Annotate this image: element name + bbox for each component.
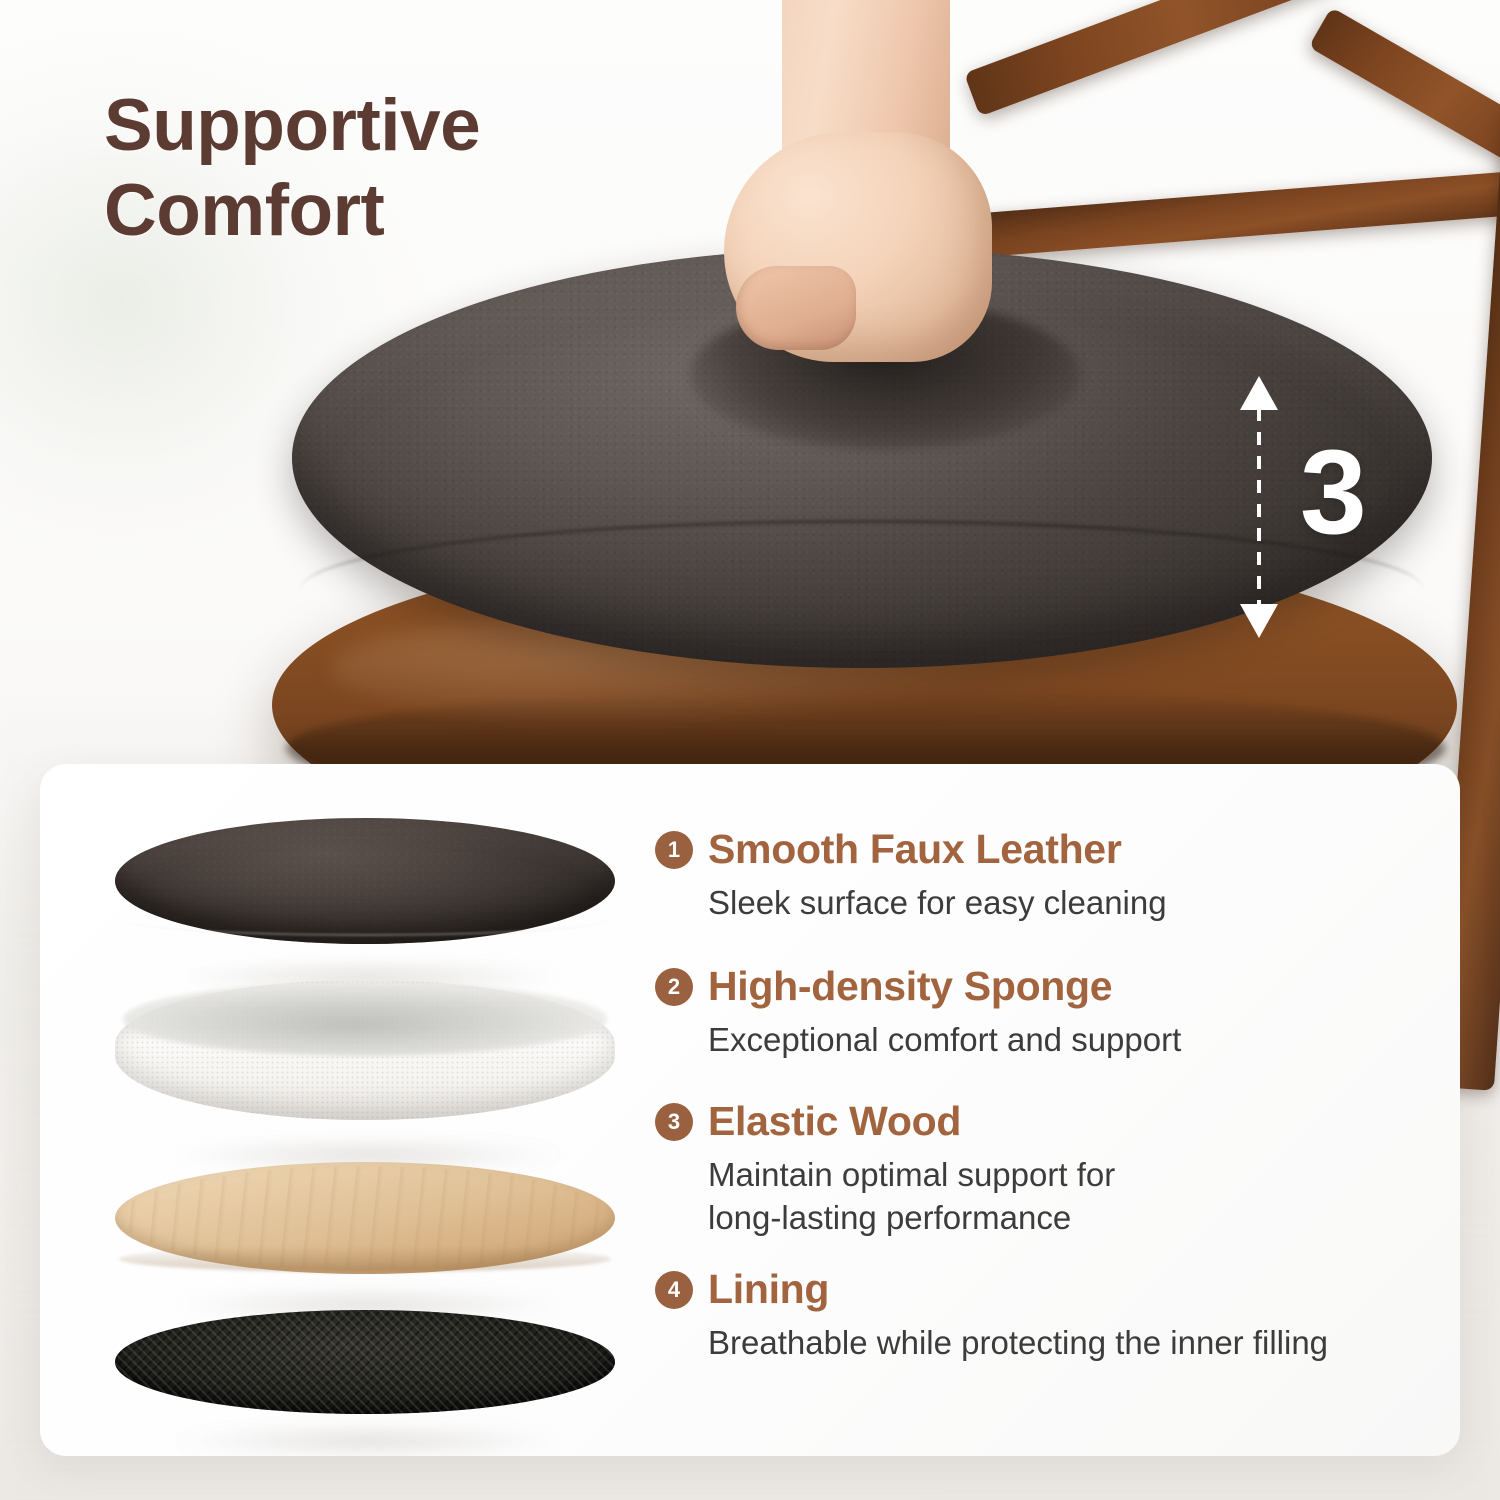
sponge-top-face (123, 982, 607, 1056)
feature-item-2: 2 High-density Sponge Exceptional comfor… (655, 963, 1425, 1062)
feature-description: Breathable while protecting the inner fi… (708, 1322, 1425, 1365)
fist-fingers (736, 266, 856, 350)
feature-title: Elastic Wood (708, 1098, 961, 1145)
layer-shadow-4 (173, 1424, 563, 1456)
chair-slat-upper-right (1309, 7, 1500, 197)
layer-lining (115, 1310, 615, 1414)
chair-slat-rail (949, 169, 1500, 260)
layer-sponge (115, 980, 615, 1120)
exploded-layer-illustration (115, 794, 655, 1424)
feature-item-4: 4 Lining Breathable while protecting the… (655, 1266, 1425, 1365)
thickness-dimension-arrow-icon (1236, 378, 1284, 636)
chair-back-wood (990, 0, 1500, 290)
feature-title: High-density Sponge (708, 963, 1112, 1010)
feature-heading-row: 3 Elastic Wood (655, 1098, 1425, 1145)
feature-number-badge: 3 (655, 1103, 693, 1141)
layer-faux-leather (115, 818, 615, 944)
wood-edge (119, 1246, 611, 1272)
layer-breakdown-card: 1 Smooth Faux Leather Sleek surface for … (40, 764, 1460, 1456)
feature-number-badge: 2 (655, 968, 693, 1006)
hand-pressing-cushion (700, 0, 1020, 390)
thickness-value: 3 (1300, 432, 1365, 552)
feature-number-badge: 4 (655, 1271, 693, 1309)
arrow-head-down-icon (1240, 604, 1278, 638)
product-feature-graphic: 3 Supportive Comfort (0, 0, 1500, 1500)
feature-title: Smooth Faux Leather (708, 826, 1121, 873)
feature-description: Sleek surface for easy cleaning (708, 882, 1425, 925)
feature-description: Exceptional comfort and support (708, 1019, 1425, 1062)
layer-wood (115, 1162, 615, 1274)
faux-leather-rim (121, 902, 609, 936)
feature-number-badge: 1 (655, 831, 693, 869)
feature-list: 1 Smooth Faux Leather Sleek surface for … (655, 826, 1425, 1387)
feature-heading-row: 1 Smooth Faux Leather (655, 826, 1425, 873)
page-title: Supportive Comfort (104, 84, 480, 253)
dashed-measure-line (1257, 408, 1261, 606)
feature-heading-row: 4 Lining (655, 1266, 1425, 1313)
feature-description: Maintain optimal support for long-lastin… (708, 1154, 1425, 1240)
lining-mesh-texture (115, 1310, 615, 1414)
arrow-head-up-icon (1240, 376, 1278, 410)
feature-item-1: 1 Smooth Faux Leather Sleek surface for … (655, 826, 1425, 925)
feature-title: Lining (708, 1266, 829, 1313)
feature-heading-row: 2 High-density Sponge (655, 963, 1425, 1010)
feature-item-3: 3 Elastic Wood Maintain optimal support … (655, 1098, 1425, 1240)
